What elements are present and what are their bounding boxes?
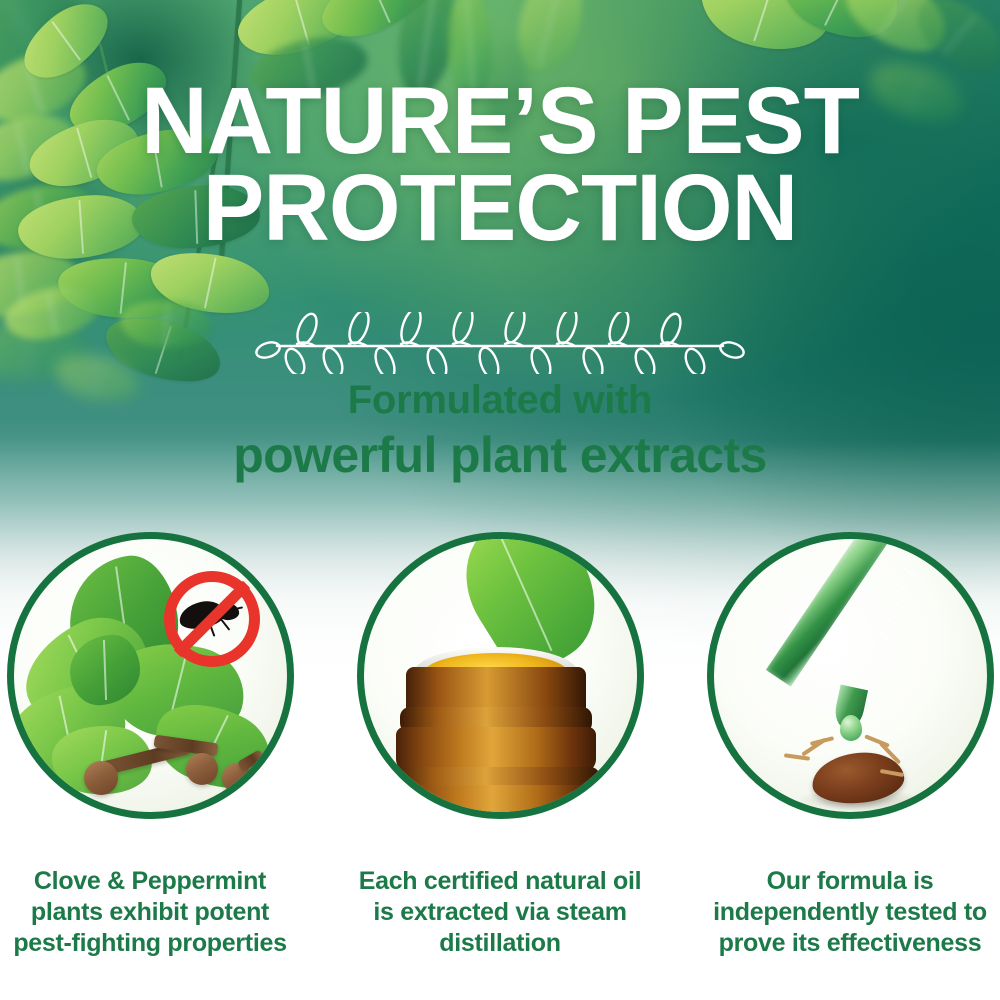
- pipette-graduation-icon: [878, 631, 891, 640]
- clove-bud-icon: [84, 761, 118, 795]
- headline-line-2: PROTECTION: [15, 165, 985, 252]
- pipette-graduation-icon: [890, 599, 903, 608]
- feature-image-steam-distillation: [357, 532, 644, 819]
- feature-image-independently-tested: [707, 532, 994, 819]
- amber-bottle-icon: [392, 785, 600, 819]
- no-pest-prohibition-icon: [164, 571, 260, 667]
- caption-independently-tested: Our formula is independently tested to p…: [705, 866, 995, 959]
- pipette-icon: [765, 532, 891, 687]
- caption-clove-peppermint: Clove & Peppermint plants exhibit potent…: [5, 866, 295, 959]
- laurel-vine-divider-icon: [255, 312, 745, 374]
- feature-card-clove-peppermint: [5, 532, 295, 862]
- page-title: NATURE’S PEST PROTECTION: [15, 78, 985, 253]
- pipette-graduation-icon: [896, 584, 907, 592]
- subheading-line-2: powerful plant extracts: [0, 427, 1000, 484]
- subheading: Formulated with powerful plant extracts: [0, 378, 1000, 484]
- headline-line-1: NATURE’S PEST: [15, 78, 985, 165]
- pipette-graduation-icon: [902, 567, 915, 576]
- clove-bud-icon: [186, 753, 218, 785]
- feature-image-clove-peppermint: [7, 532, 294, 819]
- green-droplet-icon: [840, 715, 862, 741]
- feature-circles: [0, 532, 1000, 862]
- poster-infographic: NATURE’S PEST PROTECTION: [0, 0, 1000, 1000]
- caption-steam-distillation: Each certified natural oil is extracted …: [355, 866, 645, 959]
- feature-card-steam-distillation: [355, 532, 645, 862]
- pipette-graduation-icon: [884, 616, 895, 624]
- feature-card-independently-tested: [705, 532, 995, 862]
- bed-bug-leg-icon: [809, 736, 833, 746]
- feature-captions: Clove & Peppermint plants exhibit potent…: [0, 866, 1000, 959]
- subheading-line-1: Formulated with: [0, 378, 1000, 423]
